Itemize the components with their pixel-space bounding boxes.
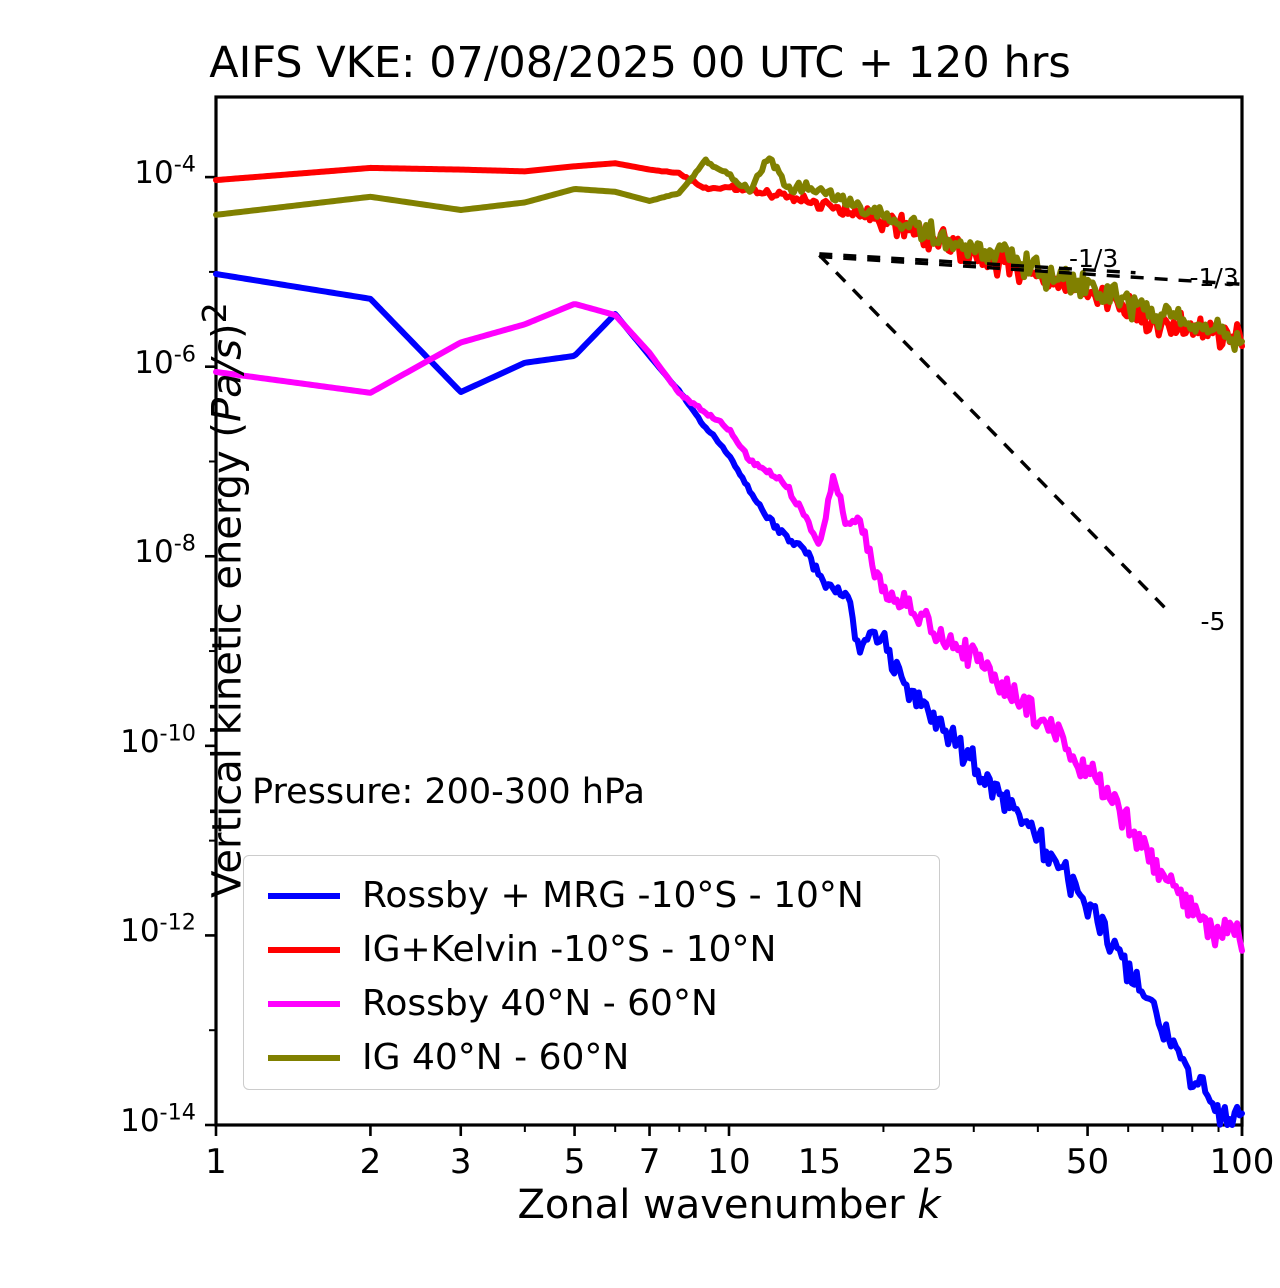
plot-canvas	[0, 0, 1280, 1288]
y-tick-label: 10-4	[0, 155, 196, 191]
y-tick-mantissa: 10	[134, 155, 173, 191]
y-tick-exponent: -10	[160, 721, 196, 747]
y-tick-mantissa: 10	[120, 1103, 159, 1139]
pressure-annotation: Pressure: 200-300 hPa	[252, 772, 645, 812]
y-tick-label: 10-12	[0, 913, 196, 949]
legend-color-swatch	[268, 1055, 340, 1061]
y-tick-exponent: -14	[160, 1100, 196, 1126]
y-tick-mantissa: 10	[120, 913, 159, 949]
slope-label-lower: -1/3	[1189, 263, 1238, 292]
legend-item-2[interactable]: Rossby 40°N - 60°N	[244, 976, 941, 1031]
legend-label: IG+Kelvin -10°S - 10°N	[362, 929, 776, 970]
slope-label-minus5: -5	[1200, 607, 1225, 636]
legend-label: Rossby 40°N - 60°N	[362, 983, 718, 1024]
series-line-2	[216, 304, 1242, 951]
y-axis-label-units: Pa/s	[204, 339, 250, 422]
y-tick-label: 10-6	[0, 345, 196, 381]
legend-color-swatch	[268, 893, 340, 899]
x-tick-label: 3	[401, 1142, 521, 1182]
x-tick-label: 100	[1182, 1142, 1280, 1182]
x-tick-label: 50	[1028, 1142, 1148, 1182]
y-tick-exponent: -8	[174, 531, 196, 557]
y-axis-label-prefix: Vertical kinetic energy (	[204, 422, 250, 898]
y-tick-mantissa: 10	[134, 534, 173, 570]
x-tick-label: 25	[873, 1142, 993, 1182]
legend-item-3[interactable]: IG 40°N - 60°N	[244, 1030, 941, 1085]
y-axis-label-suffix: )	[204, 323, 250, 339]
x-tick-label: 1	[156, 1142, 276, 1182]
legend-color-swatch	[268, 1001, 340, 1007]
x-axis-label-prefix: Zonal wavenumber	[517, 1182, 917, 1228]
legend-label: Rossby + MRG -10°S - 10°N	[362, 875, 864, 916]
y-axis-label-exponent: 2	[195, 302, 234, 323]
y-tick-mantissa: 10	[120, 724, 159, 760]
y-tick-label: 10-8	[0, 534, 196, 570]
y-tick-label: 10-10	[0, 724, 196, 760]
y-tick-exponent: -4	[174, 152, 196, 178]
chart-figure: AIFS VKE: 07/08/2025 00 UTC + 120 hrs Ve…	[0, 0, 1280, 1288]
y-tick-exponent: -6	[174, 341, 196, 367]
chart-legend[interactable]: Rossby + MRG -10°S - 10°NIG+Kelvin -10°S…	[243, 855, 940, 1090]
y-tick-label: 10-14	[0, 1103, 196, 1139]
slope-label-upper: -1/3	[1069, 244, 1118, 273]
y-tick-exponent: -12	[160, 910, 196, 936]
x-axis-label-symbol: k	[917, 1182, 940, 1228]
y-tick-mantissa: 10	[134, 345, 173, 381]
legend-color-swatch	[268, 947, 340, 953]
x-tick-label: 15	[759, 1142, 879, 1182]
legend-item-0[interactable]: Rossby + MRG -10°S - 10°N	[244, 868, 941, 923]
legend-label: IG 40°N - 60°N	[362, 1037, 629, 1078]
legend-item-1[interactable]: IG+Kelvin -10°S - 10°N	[244, 922, 941, 977]
x-axis-label: Zonal wavenumber k	[216, 1182, 1242, 1228]
